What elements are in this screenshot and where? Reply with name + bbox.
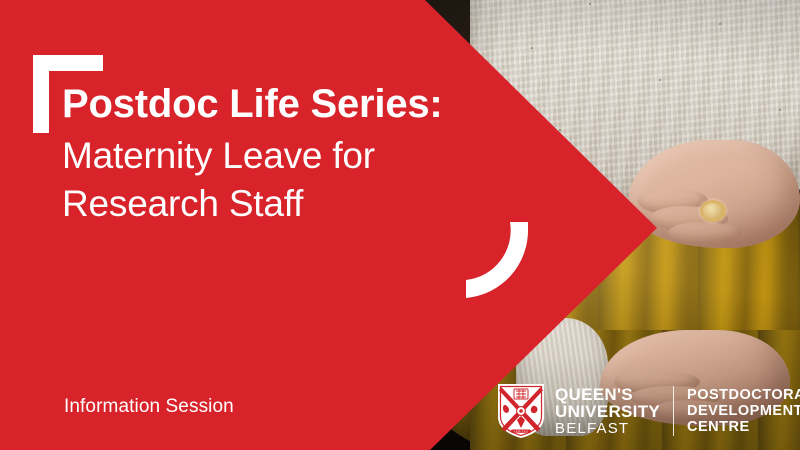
university-name-line-3: BELFAST: [555, 421, 660, 437]
corner-bracket-arm-vertical: [33, 55, 49, 133]
logo-divider: [673, 386, 674, 436]
page-title: Postdoc Life Series: Maternity Leave for…: [62, 84, 492, 222]
promo-banner: Postdoc Life Series: Maternity Leave for…: [0, 0, 800, 450]
title-line-1: Postdoc Life Series:: [62, 84, 492, 124]
centre-name-line-1: POSTDOCTORAL: [687, 387, 800, 403]
queens-university-belfast-crest-icon: VERITAS: [497, 383, 545, 439]
university-name-line-1: QUEEN'S: [555, 386, 660, 404]
session-label: Information Session: [64, 396, 234, 418]
centre-name-line-3: CENTRE: [687, 419, 800, 435]
svg-text:VERITAS: VERITAS: [514, 429, 529, 433]
title-line-3: Research Staff: [62, 185, 492, 222]
quarter-arc-swoosh-icon: [460, 222, 534, 298]
university-wordmark: QUEEN'S UNIVERSITY BELFAST: [555, 386, 660, 437]
centre-wordmark: POSTDOCTORAL DEVELOPMENT CENTRE: [687, 387, 800, 436]
title-line-2: Maternity Leave for: [62, 137, 492, 174]
university-name-line-2: UNIVERSITY: [555, 403, 660, 421]
centre-name-line-2: DEVELOPMENT: [687, 403, 800, 419]
logo-lockup: VERITAS QUEEN'S UNIVERSITY BELFAST POSTD…: [497, 380, 800, 442]
